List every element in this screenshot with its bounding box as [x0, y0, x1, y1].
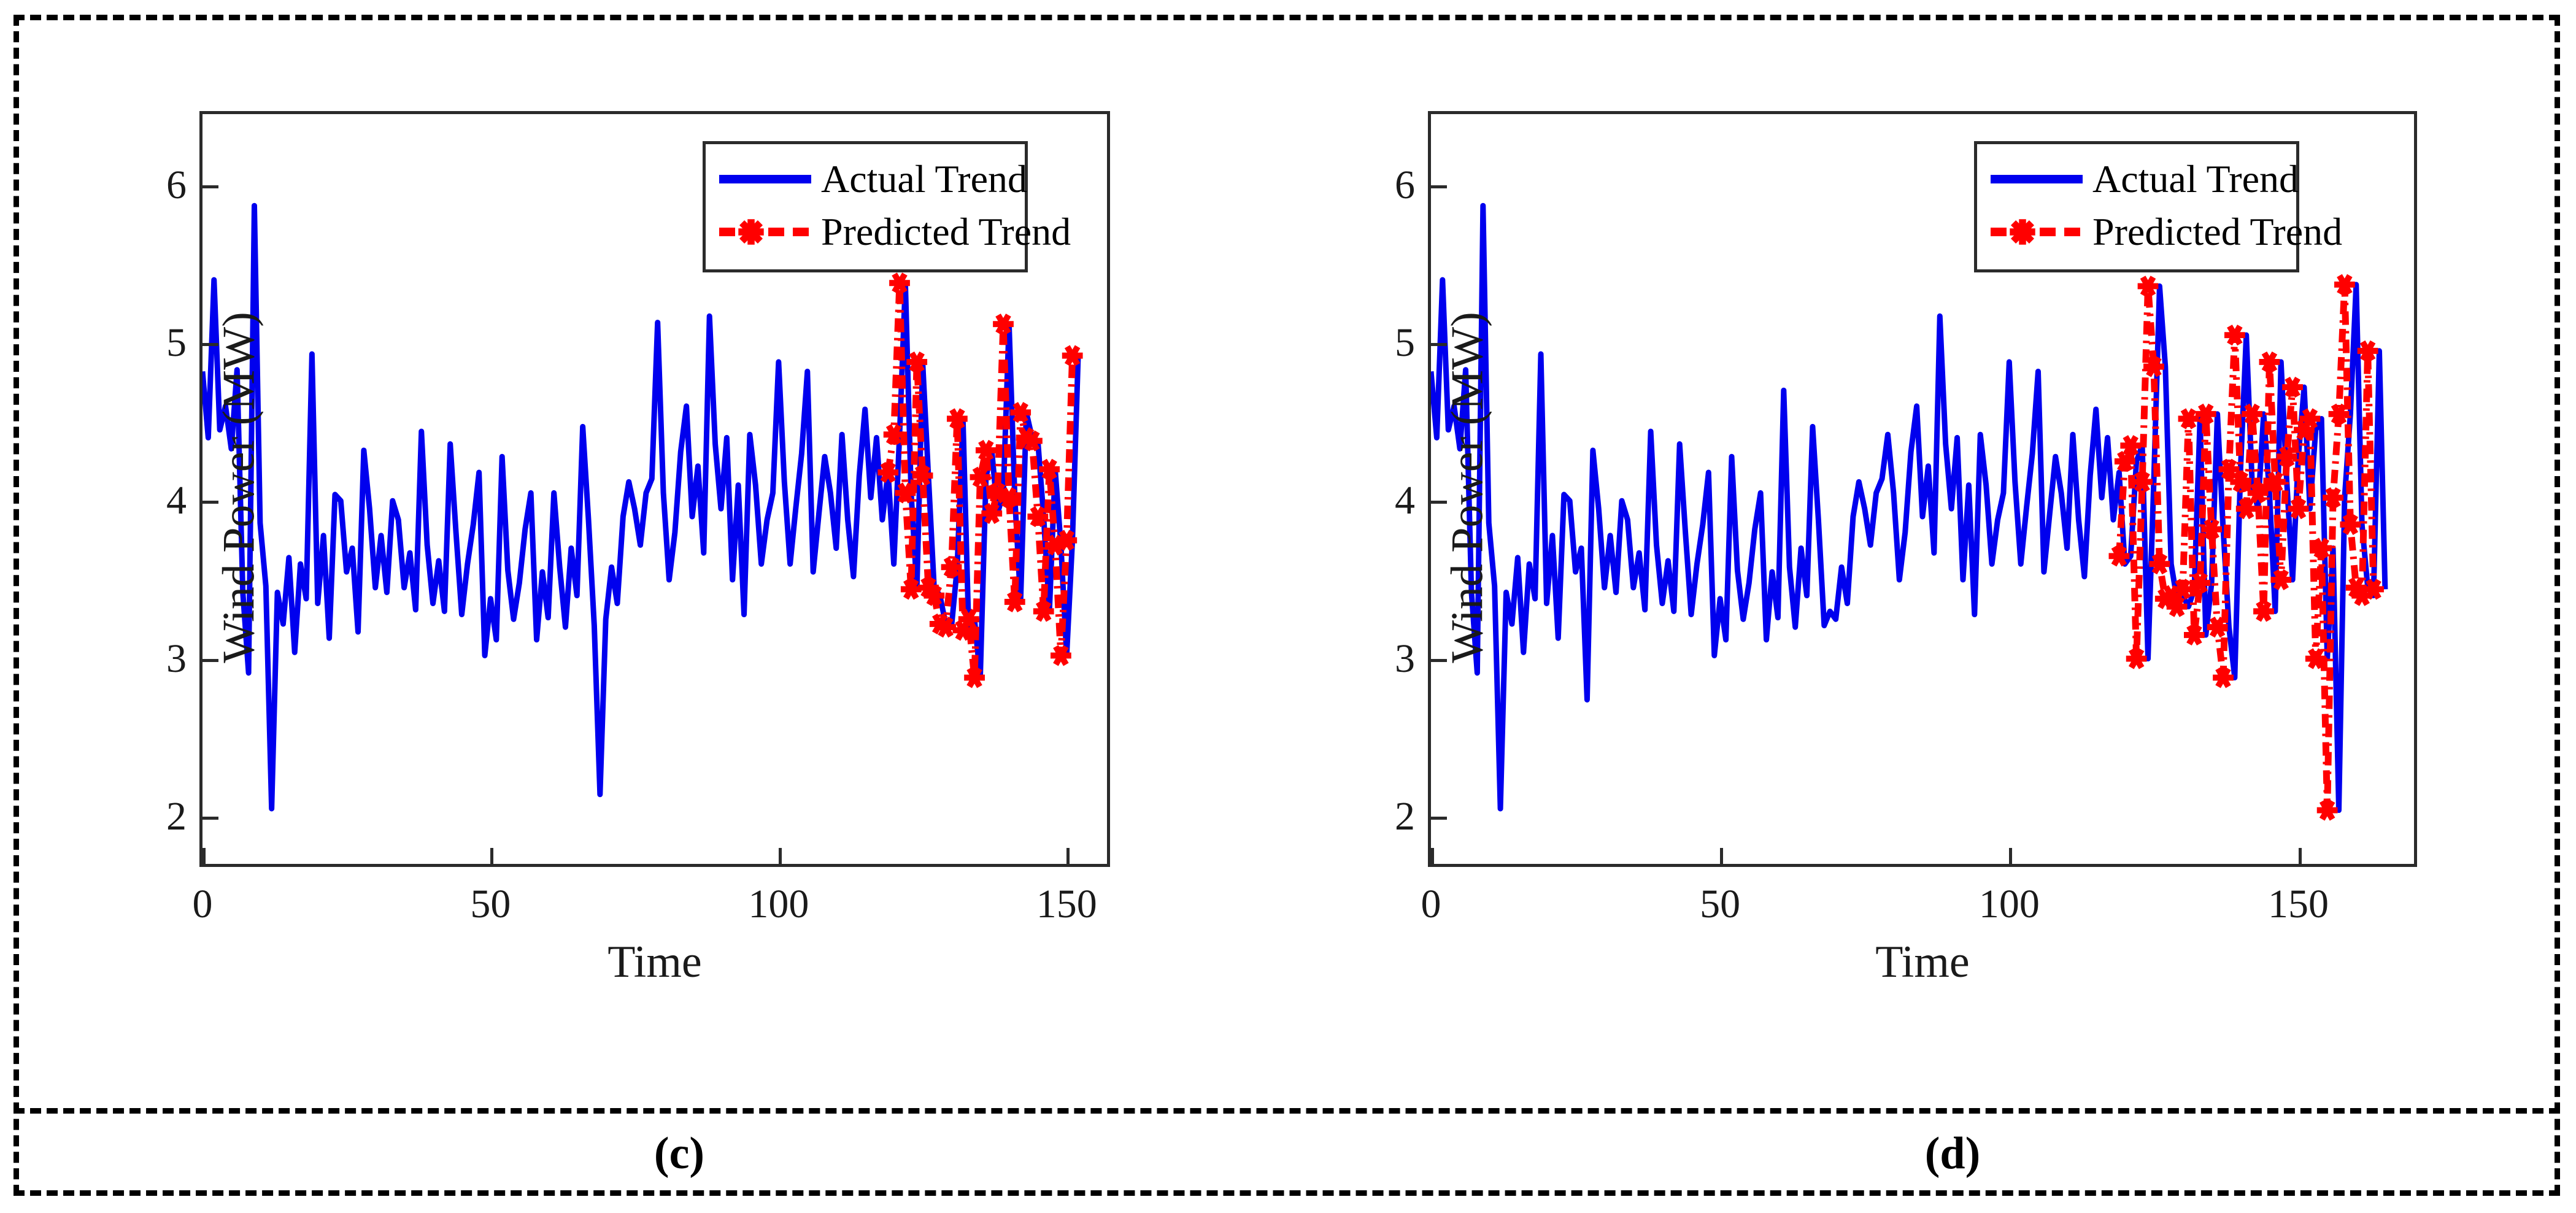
y-tick	[1431, 817, 1447, 820]
y-tick-label: 2	[1395, 793, 1415, 840]
legend-swatch-predicted-c	[719, 220, 811, 244]
x-tick	[1720, 848, 1723, 864]
x-tick	[490, 848, 493, 864]
x-tick-label: 50	[470, 881, 511, 928]
legend-swatch-predicted-d	[1991, 220, 2083, 244]
legend-label-predicted-d: Predicted Trend	[2092, 212, 2342, 252]
legend-label-actual-c: Actual Trend	[821, 160, 1027, 199]
legend-swatch-actual-d	[1991, 167, 2083, 191]
y-tick	[1431, 185, 1447, 188]
x-tick-label: 0	[1421, 881, 1441, 928]
panel-d: 23456 050100150 Wind Power (MW) Time Act…	[1345, 0, 2560, 1108]
y-tick-label: 6	[1395, 162, 1415, 209]
x-tick-label: 150	[2268, 881, 2329, 928]
x-tick	[2299, 848, 2302, 864]
legend-row-predicted-d: Predicted Trend	[1991, 206, 2280, 258]
x-tick	[779, 848, 782, 864]
y-tick-label: 3	[166, 636, 187, 682]
legend-label-actual-d: Actual Trend	[2092, 160, 2299, 199]
asterisk-marker-icon	[2138, 277, 2159, 295]
legend-row-predicted-c: Predicted Trend	[719, 206, 1009, 258]
y-tick-label: 4	[166, 477, 187, 524]
plot-axes-c: 23456 050100150 Wind Power (MW) Time Act…	[199, 111, 1110, 867]
plot-axes-d: 23456 050100150 Wind Power (MW) Time Act…	[1428, 111, 2417, 867]
y-tick-label: 2	[166, 793, 187, 840]
x-tick-label: 100	[1979, 881, 2040, 928]
caption-separator-dashed-line	[13, 1108, 2560, 1114]
y-tick	[202, 185, 218, 188]
legend-swatch-actual-c	[719, 167, 811, 191]
asterisk-marker-icon	[2008, 218, 2037, 246]
legend-row-actual-d: Actual Trend	[1991, 153, 2280, 206]
y-tick-label: 4	[1395, 477, 1415, 524]
x-axis-title-d: Time	[1431, 936, 2414, 988]
legend-label-predicted-c: Predicted Trend	[821, 212, 1071, 252]
x-tick	[1431, 848, 1434, 864]
y-tick-label: 5	[166, 320, 187, 366]
x-tick-label: 0	[193, 881, 213, 928]
asterisk-marker-icon	[737, 218, 765, 246]
legend-c: Actual Trend	[703, 141, 1028, 272]
actual-trend-line	[202, 206, 1078, 809]
y-tick-label: 3	[1395, 636, 1415, 682]
x-tick	[1066, 848, 1070, 864]
x-tick	[2009, 848, 2012, 864]
x-tick-label: 50	[1700, 881, 1740, 928]
y-axis-title-d: Wind Power (MW)	[1442, 273, 1494, 703]
panel-caption-d: (d)	[1345, 1128, 2560, 1180]
y-tick-label: 6	[166, 162, 187, 209]
asterisk-marker-icon	[2253, 603, 2274, 620]
y-tick-label: 5	[1395, 320, 1415, 366]
legend-d: Actual Trend	[1974, 141, 2299, 272]
y-tick	[202, 817, 218, 820]
figure-root: 23456 050100150 Wind Power (MW) Time Act…	[0, 0, 2576, 1213]
panel-caption-c: (c)	[13, 1128, 1345, 1180]
y-axis-title-c: Wind Power (MW)	[214, 273, 266, 703]
panel-c: 23456 050100150 Wind Power (MW) Time Act…	[13, 0, 1345, 1108]
x-tick-label: 100	[748, 881, 809, 928]
legend-row-actual-c: Actual Trend	[719, 153, 1009, 206]
x-axis-title-c: Time	[202, 936, 1107, 988]
x-tick	[202, 848, 206, 864]
x-tick-label: 150	[1036, 881, 1097, 928]
